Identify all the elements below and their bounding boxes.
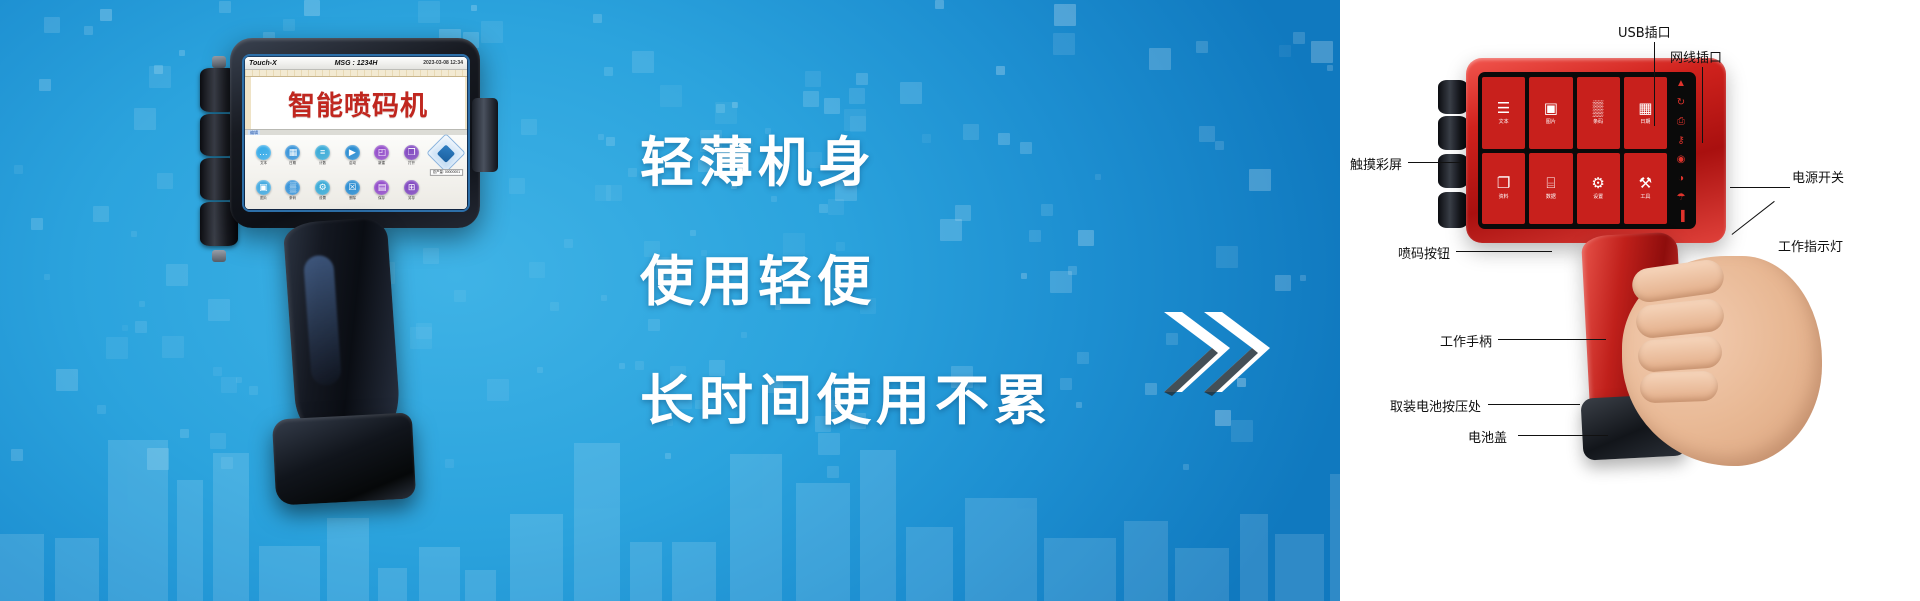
device-black-handheld: Touch-X MSG : 1234H 2023-03-08 12:34 智能喷… — [150, 28, 510, 498]
red-screen-app-label: 资料 — [1499, 193, 1509, 200]
callout-status-led-label: 工作指示灯 — [1778, 240, 1843, 255]
callout-leader-line — [1488, 404, 1580, 405]
callout-battery-release: 取装电池按压处 — [1390, 396, 1481, 416]
screen-app-图片[interactable]: ▣图片 — [249, 173, 278, 207]
device-handle-assembly — [268, 220, 418, 502]
screen-app-条码[interactable]: ▒条码 — [279, 173, 308, 207]
direction-pad-icon[interactable] — [426, 133, 466, 173]
screen-nav-pad: 总产量: 00000001 — [429, 138, 463, 207]
callout-power-switch-label: 电源开关 — [1792, 171, 1844, 186]
red-screen-app-图片[interactable]: ▣图片 — [1529, 77, 1572, 149]
device-red-handheld: ☰文本▣图片▒条码▦日期❐资料⌸数据⚙设置⚒工具 ▲↻⎙⚷◉◑☂▐ — [1436, 58, 1746, 478]
marketing-line-3: 长时间使用不累 — [640, 356, 1053, 435]
callout-work-handle: 工作手柄 — [1440, 331, 1492, 351]
marketing-copy: 轻薄机身 使用轻便 长时间使用不累 — [640, 118, 1053, 435]
screen-app-label: 条码 — [290, 196, 297, 201]
callout-battery-cover-label: 电池盖 — [1468, 431, 1507, 446]
screen-meta-label: 2023-03-08 12:34 — [423, 61, 463, 66]
callout-usb-port-label: USB插口 — [1618, 26, 1671, 41]
print-icon[interactable]: ⎙ — [1677, 117, 1685, 127]
callout-network-port: 网线插口 — [1670, 47, 1722, 67]
clean-icon[interactable]: ☂ — [1677, 193, 1686, 203]
callout-leader-line — [1498, 339, 1606, 340]
list-icon: ≡ — [315, 145, 330, 160]
red-screen-app-条码[interactable]: ▒条码 — [1577, 77, 1620, 149]
screen-app-日期[interactable]: ▦日期 — [279, 138, 308, 172]
callout-leader-line — [1702, 67, 1703, 143]
device-battery — [272, 412, 416, 505]
new-file-icon: ◰ — [374, 145, 389, 160]
red-screen-app-label: 文本 — [1499, 118, 1509, 125]
screen-app-area: …文本▦日期≡计数▶启动◰新建❐打开▣图片▒条码⚙设置☒删除▤保存⊞另存 总产量… — [245, 135, 467, 209]
red-screen-app-label: 设置 — [1593, 193, 1603, 200]
screen-app-保存[interactable]: ▤保存 — [368, 173, 397, 207]
red-screen-app-文本[interactable]: ☰文本 — [1482, 77, 1525, 149]
chat-bubble-icon: … — [256, 145, 271, 160]
left-blue-panel: Touch-X MSG : 1234H 2023-03-08 12:34 智能喷… — [0, 0, 1340, 601]
screen-app-label: 启动 — [349, 161, 356, 166]
callout-status-led: 工作指示灯 — [1778, 236, 1843, 256]
red-screen-app-日期[interactable]: ▦日期 — [1624, 77, 1667, 149]
screen-app-label: 设置 — [319, 196, 326, 201]
red-screen-app-label: 工具 — [1640, 193, 1650, 200]
refresh-icon[interactable]: ↻ — [1677, 98, 1685, 108]
callout-leader-line — [1730, 187, 1790, 188]
callout-leader-line — [1408, 162, 1462, 163]
red-screen-app-label: 数据 — [1546, 193, 1556, 200]
marketing-line-1: 轻薄机身 — [640, 118, 1053, 197]
device-screen[interactable]: Touch-X MSG : 1234H 2023-03-08 12:34 智能喷… — [245, 57, 467, 209]
callout-touch-screen: 触摸彩屏 — [1350, 154, 1402, 174]
screen-app-label: 删除 — [349, 196, 356, 201]
screen-model-label: Touch-X — [249, 60, 277, 67]
callout-leader-line — [1518, 435, 1608, 436]
screen-app-计数[interactable]: ≡计数 — [308, 138, 337, 172]
screen-ruler — [245, 70, 467, 77]
double-chevron-right-icon — [1160, 308, 1280, 398]
record-icon[interactable]: ◉ — [1677, 155, 1686, 165]
screen-app-文本[interactable]: …文本 — [249, 138, 278, 172]
callout-work-handle-label: 工作手柄 — [1440, 335, 1492, 350]
red-screen-side-toolbar: ▲↻⎙⚷◉◑☂▐ — [1670, 77, 1692, 224]
save-as-icon: ⊞ — [404, 180, 419, 195]
marketing-line-2: 使用轻便 — [640, 237, 1053, 316]
save-icon: ▤ — [374, 180, 389, 195]
device-grip — [283, 217, 402, 439]
callout-touch-screen-label: 触摸彩屏 — [1350, 158, 1402, 173]
screen-app-label: 文本 — [260, 161, 267, 166]
qrcode-icon: ▒ — [285, 180, 300, 195]
callout-network-port-label: 网线插口 — [1670, 51, 1722, 66]
screen-app-grid: …文本▦日期≡计数▶启动◰新建❐打开▣图片▒条码⚙设置☒删除▤保存⊞另存 — [249, 138, 426, 207]
callout-battery-cover: 电池盖 — [1468, 427, 1507, 447]
screen-app-label: 另存 — [408, 196, 415, 201]
callout-print-button: 喷码按钮 — [1398, 243, 1450, 263]
tools-icon: ⚒ — [1639, 176, 1652, 191]
callout-battery-release-label: 取装电池按压处 — [1390, 400, 1481, 415]
battery-icon[interactable]: ▐ — [1677, 212, 1684, 222]
gear-icon: ⚙ — [315, 180, 330, 195]
red-screen-app-资料[interactable]: ❐资料 — [1482, 153, 1525, 225]
red-screen-app-label: 日期 — [1640, 118, 1650, 125]
screen-app-label: 日期 — [290, 161, 297, 166]
red-screen-app-数据[interactable]: ⌸数据 — [1529, 153, 1572, 225]
screen-app-设置[interactable]: ⚙设置 — [308, 173, 337, 207]
play-icon: ▶ — [345, 145, 360, 160]
screen-app-删除[interactable]: ☒删除 — [338, 173, 367, 207]
qrcode-icon: ▒ — [1593, 101, 1604, 116]
folder-icon: ❐ — [404, 145, 419, 160]
finger — [1637, 335, 1723, 373]
red-screen-app-工具[interactable]: ⚒工具 — [1624, 153, 1667, 225]
screen-app-label: 打开 — [408, 161, 415, 166]
canvas-text: 智能喷码机 — [288, 84, 428, 123]
screen-app-另存[interactable]: ⊞另存 — [397, 173, 426, 207]
callout-print-button-label: 喷码按钮 — [1398, 247, 1450, 262]
image-icon: ▣ — [1544, 101, 1558, 116]
screen-app-label: 计数 — [319, 161, 326, 166]
folder-icon: ❐ — [1497, 176, 1510, 191]
callout-usb-port: USB插口 — [1618, 22, 1671, 42]
print-nozzle — [472, 98, 498, 172]
screen-app-label: 图片 — [260, 196, 267, 201]
gear-icon: ⚙ — [1591, 176, 1604, 191]
red-screen-app-grid: ☰文本▣图片▒条码▦日期❐资料⌸数据⚙设置⚒工具 — [1482, 77, 1667, 224]
screen-status-bar: Touch-X MSG : 1234H 2023-03-08 12:34 — [245, 57, 467, 70]
red-device-screen[interactable]: ☰文本▣图片▒条码▦日期❐资料⌸数据⚙设置⚒工具 ▲↻⎙⚷◉◑☂▐ — [1478, 72, 1696, 229]
red-device-hinge-rollers — [1436, 80, 1470, 230]
flame-icon[interactable]: ▲ — [1676, 79, 1686, 89]
document-icon: ☰ — [1497, 101, 1510, 116]
red-screen-app-label: 图片 — [1546, 118, 1556, 125]
calendar-icon: ▦ — [285, 145, 300, 160]
image-icon: ▣ — [256, 180, 271, 195]
red-screen-app-设置[interactable]: ⚙设置 — [1577, 153, 1620, 225]
screen-app-label: 保存 — [379, 196, 386, 201]
callout-leader-line — [1456, 251, 1552, 252]
database-icon: ⌸ — [1546, 176, 1555, 191]
calendar-icon: ▦ — [1638, 101, 1652, 116]
red-screen-app-label: 条码 — [1593, 118, 1603, 125]
device-screen-bezel: Touch-X MSG : 1234H 2023-03-08 12:34 智能喷… — [242, 54, 470, 212]
screen-message-canvas[interactable]: 智能喷码机 — [245, 77, 467, 129]
callout-leader-line — [1654, 42, 1655, 126]
screen-app-打开[interactable]: ❐打开 — [397, 138, 426, 172]
right-white-panel: ☰文本▣图片▒条码▦日期❐资料⌸数据⚙设置⚒工具 ▲↻⎙⚷◉◑☂▐ USB插口 … — [1340, 0, 1920, 601]
production-counter: 总产量: 00000001 — [429, 169, 462, 176]
screen-message-label: MSG : 1234H — [335, 60, 378, 67]
promo-banner: Touch-X MSG : 1234H 2023-03-08 12:34 智能喷… — [0, 0, 1920, 601]
contrast-icon[interactable]: ◑ — [1678, 174, 1684, 184]
trash-icon: ☒ — [345, 180, 360, 195]
screen-app-新建[interactable]: ◰新建 — [368, 138, 397, 172]
callout-power-switch: 电源开关 — [1792, 167, 1844, 187]
finger — [1640, 371, 1719, 404]
screen-app-启动[interactable]: ▶启动 — [338, 138, 367, 172]
key-icon[interactable]: ⚷ — [1677, 136, 1684, 146]
screen-app-label: 新建 — [379, 161, 386, 166]
